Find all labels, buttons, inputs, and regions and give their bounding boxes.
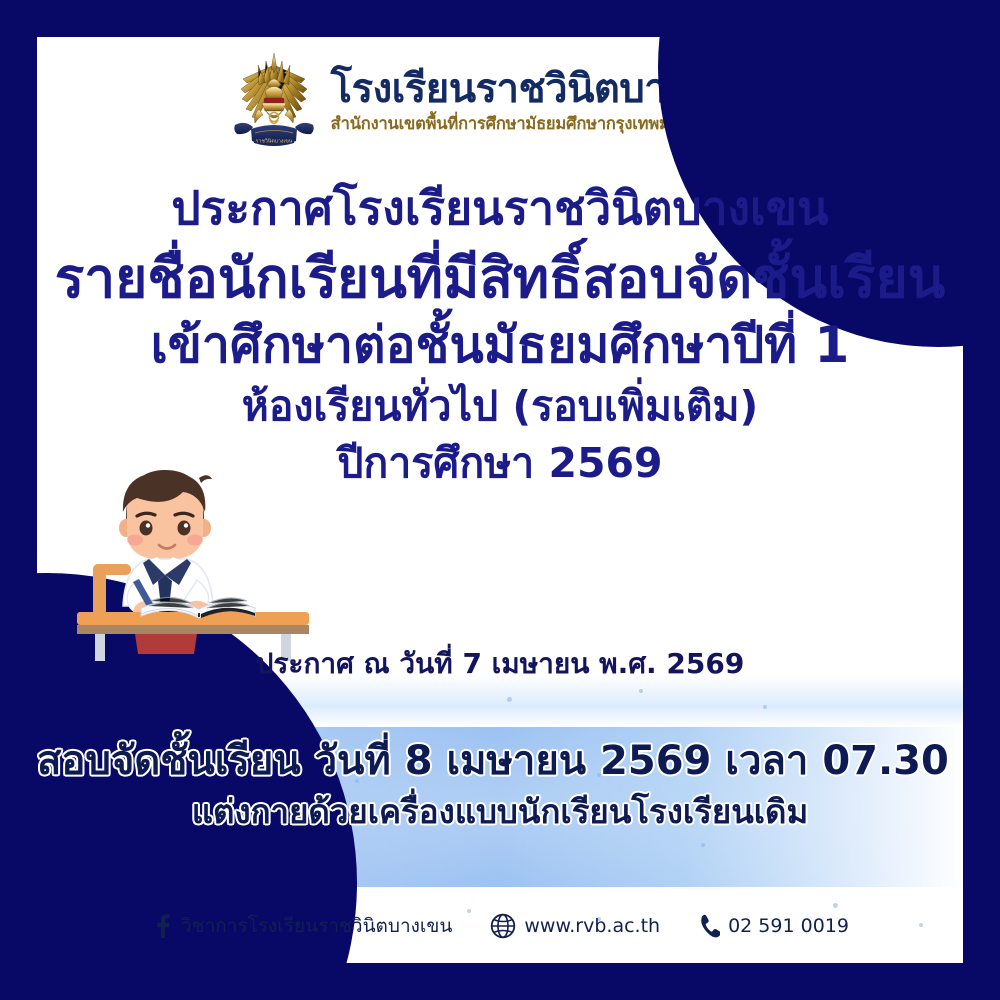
exam-dresscode-line: แต่งกายด้วยเครื่องแบบนักเรียนโรงเรียนเดิ…: [37, 791, 963, 832]
royal-garuda-crown-emblem: ราชวินิตบางเขน: [231, 45, 317, 157]
speckle: [701, 843, 705, 847]
speckle: [833, 903, 838, 908]
student-writing-at-desk-illustration: [75, 456, 325, 661]
globe-icon: [490, 913, 516, 939]
exam-info-text: สอบจัดชั้นเรียน วันที่ 8 เมษายน 2569 เวล…: [37, 737, 963, 832]
svg-text:ราชวินิตบางเขน: ราชวินิตบางเขน: [255, 138, 292, 145]
poster-footer: วิชาการโรงเรียนราชวินิตบางเขน www.rvb.ac…: [37, 911, 963, 941]
headline-line-2: รายชื่อนักเรียนที่มีสิทธิ์สอบจัดชั้นเรีย…: [37, 251, 963, 306]
phone-label: 02 591 0019: [728, 915, 849, 937]
footer-phone[interactable]: 02 591 0019: [698, 914, 849, 938]
headline-line-1: ประกาศโรงเรียนราชวินิตบางเขน: [37, 185, 963, 231]
facebook-label: วิชาการโรงเรียนราชวินิตบางเขน: [181, 911, 452, 941]
announcement-poster: ราชวินิตบางเขน โรงเรียนราชวินิตบางเขน สำ…: [0, 0, 1000, 1000]
headline-line-4: ห้องเรียนทั่วไป (รอบเพิ่มเติม): [37, 386, 963, 427]
exam-datetime-line: สอบจัดชั้นเรียน วันที่ 8 เมษายน 2569 เวล…: [37, 737, 963, 785]
speckle: [507, 697, 512, 702]
phone-icon: [698, 914, 720, 938]
facebook-icon: [151, 914, 173, 938]
footer-facebook[interactable]: วิชาการโรงเรียนราชวินิตบางเขน: [151, 911, 452, 941]
speckle: [639, 689, 643, 693]
website-label: www.rvb.ac.th: [524, 915, 660, 937]
announcement-date: ประกาศ ณ วันที่ 7 เมษายน พ.ศ. 2569: [37, 642, 963, 686]
headline-block: ประกาศโรงเรียนราชวินิตบางเขน รายชื่อนักเ…: [37, 185, 963, 484]
speckle: [763, 705, 767, 709]
poster-card: ราชวินิตบางเขน โรงเรียนราชวินิตบางเขน สำ…: [37, 37, 963, 963]
headline-line-3: เข้าศึกษาต่อชั้นมัธยมศึกษาปีที่ 1: [37, 320, 963, 370]
footer-website[interactable]: www.rvb.ac.th: [490, 913, 660, 939]
headline-line-5: ปีการศึกษา 2569: [37, 443, 963, 484]
